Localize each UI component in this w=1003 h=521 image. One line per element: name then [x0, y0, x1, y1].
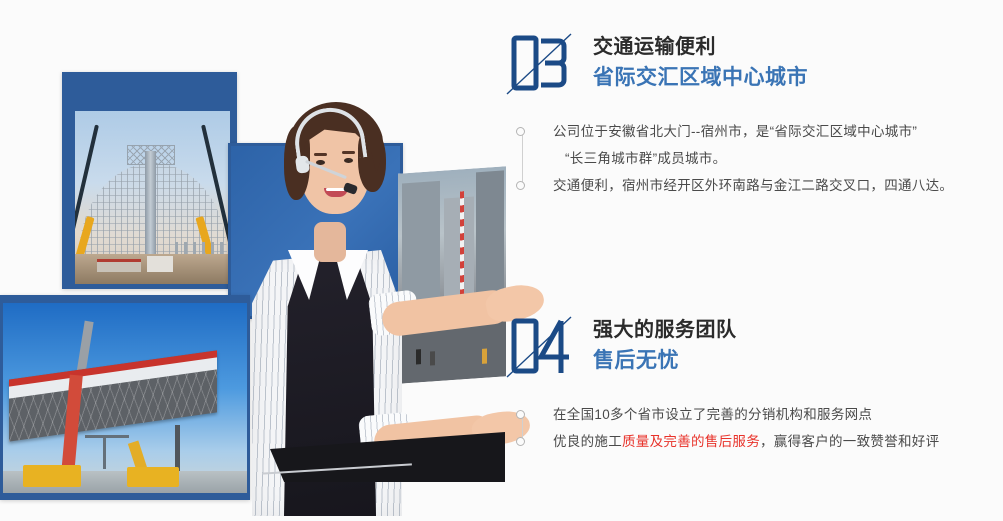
bullet-circle-icon: [516, 127, 525, 136]
feature-block-04: 强大的服务团队 售后无忧 在全国10多个省市设立了完善的分销机构和服务网点 优良…: [505, 313, 1003, 455]
bullet-text-line-1: 在全国10多个省市设立了完善的分销机构和服务网点: [553, 407, 872, 422]
site-shed-shape: [97, 259, 141, 272]
page-root: 交通运输便利 省际交汇区域中心城市 公司位于安徽省北大门--宿州市，是“省际交汇…: [0, 0, 1003, 521]
feature-03-titles: 交通运输便利 省际交汇区域中心城市: [593, 34, 808, 92]
photo-steel-dome-construction: [62, 72, 237, 289]
bullet-text: 优良的施工质量及完善的售后服务，赢得客户的一致赞誉和好评: [553, 428, 939, 455]
truck-shape-2: [127, 467, 179, 487]
feature-04-header: 强大的服务团队 售后无忧: [505, 313, 1003, 391]
feature-04-titles: 强大的服务团队 售后无忧: [593, 317, 737, 375]
bullet-text: 公司位于安徽省北大门--宿州市，是“省际交汇区域中心城市” “长三角城市群”成员…: [553, 118, 917, 172]
center-tower-shape: [145, 151, 156, 269]
bullet-circle-icon: [516, 437, 525, 446]
bullet-segment-plain-2: ，赢得客户的一致赞誉和好评: [760, 434, 939, 449]
photo-steel-dome-image: [75, 111, 230, 284]
number-badge-03: [505, 30, 585, 100]
customer-service-agent: [234, 64, 534, 464]
feature-03-header: 交通运输便利 省际交汇区域中心城市: [505, 30, 1003, 108]
bullet-item: 交通便利，宿州市经开区外环南路与金江二路交叉口，四通八达。: [553, 172, 1003, 199]
bullet-text: 交通便利，宿州市经开区外环南路与金江二路交叉口，四通八达。: [553, 172, 953, 199]
feature-block-03: 交通运输便利 省际交汇区域中心城市 公司位于安徽省北大门--宿州市，是“省际交汇…: [505, 30, 1003, 199]
bullet-text: 在全国10多个省市设立了完善的分销机构和服务网点: [553, 401, 872, 428]
bullet-item: 公司位于安徽省北大门--宿州市，是“省际交汇区域中心城市” “长三角城市群”成员…: [553, 118, 1003, 172]
bullet-segment-highlight: 质量及完善的售后服务: [622, 434, 760, 449]
photo-collage: [0, 0, 520, 521]
agent-neck: [314, 222, 346, 262]
feature-04-bullet-list: 在全国10多个省市设立了完善的分销机构和服务网点 优良的施工质量及完善的售后服务…: [505, 401, 1003, 455]
feature-03-title-sub: 省际交汇区域中心城市: [593, 63, 808, 92]
bullet-connector-rail: [522, 128, 523, 187]
bullet-item: 在全国10多个省市设立了完善的分销机构和服务网点: [553, 401, 1003, 428]
photo-red-edge-canopy-lift: [0, 295, 250, 500]
bullet-item: 优良的施工质量及完善的售后服务，赢得客户的一致赞誉和好评: [553, 428, 1003, 455]
headset-earpiece-icon: [295, 155, 310, 174]
site-container-shape: [147, 256, 173, 272]
feature-04-title-sub: 售后无忧: [593, 346, 737, 375]
bullet-text-line-2: “长三角城市群”成员城市。: [553, 145, 917, 172]
number-badge-04: [505, 313, 585, 383]
bullet-segment-plain-1: 优良的施工: [553, 434, 622, 449]
bullet-circle-icon: [516, 410, 525, 419]
bullet-text-line-1: 公司位于安徽省北大门--宿州市，是“省际交汇区域中心城市”: [553, 124, 917, 139]
truck-shape-1: [23, 465, 81, 487]
feature-04-title-main: 强大的服务团队: [593, 317, 737, 344]
feature-03-title-main: 交通运输便利: [593, 34, 808, 61]
tower-crane-shape: [103, 435, 106, 469]
canopy-lift-image: [3, 303, 247, 493]
bullet-circle-icon: [516, 181, 525, 190]
feature-03-bullet-list: 公司位于安徽省北大门--宿州市，是“省际交汇区域中心城市” “长三角城市群”成员…: [505, 118, 1003, 199]
bullet-text-line-1: 交通便利，宿州市经开区外环南路与金江二路交叉口，四通八达。: [553, 178, 953, 193]
